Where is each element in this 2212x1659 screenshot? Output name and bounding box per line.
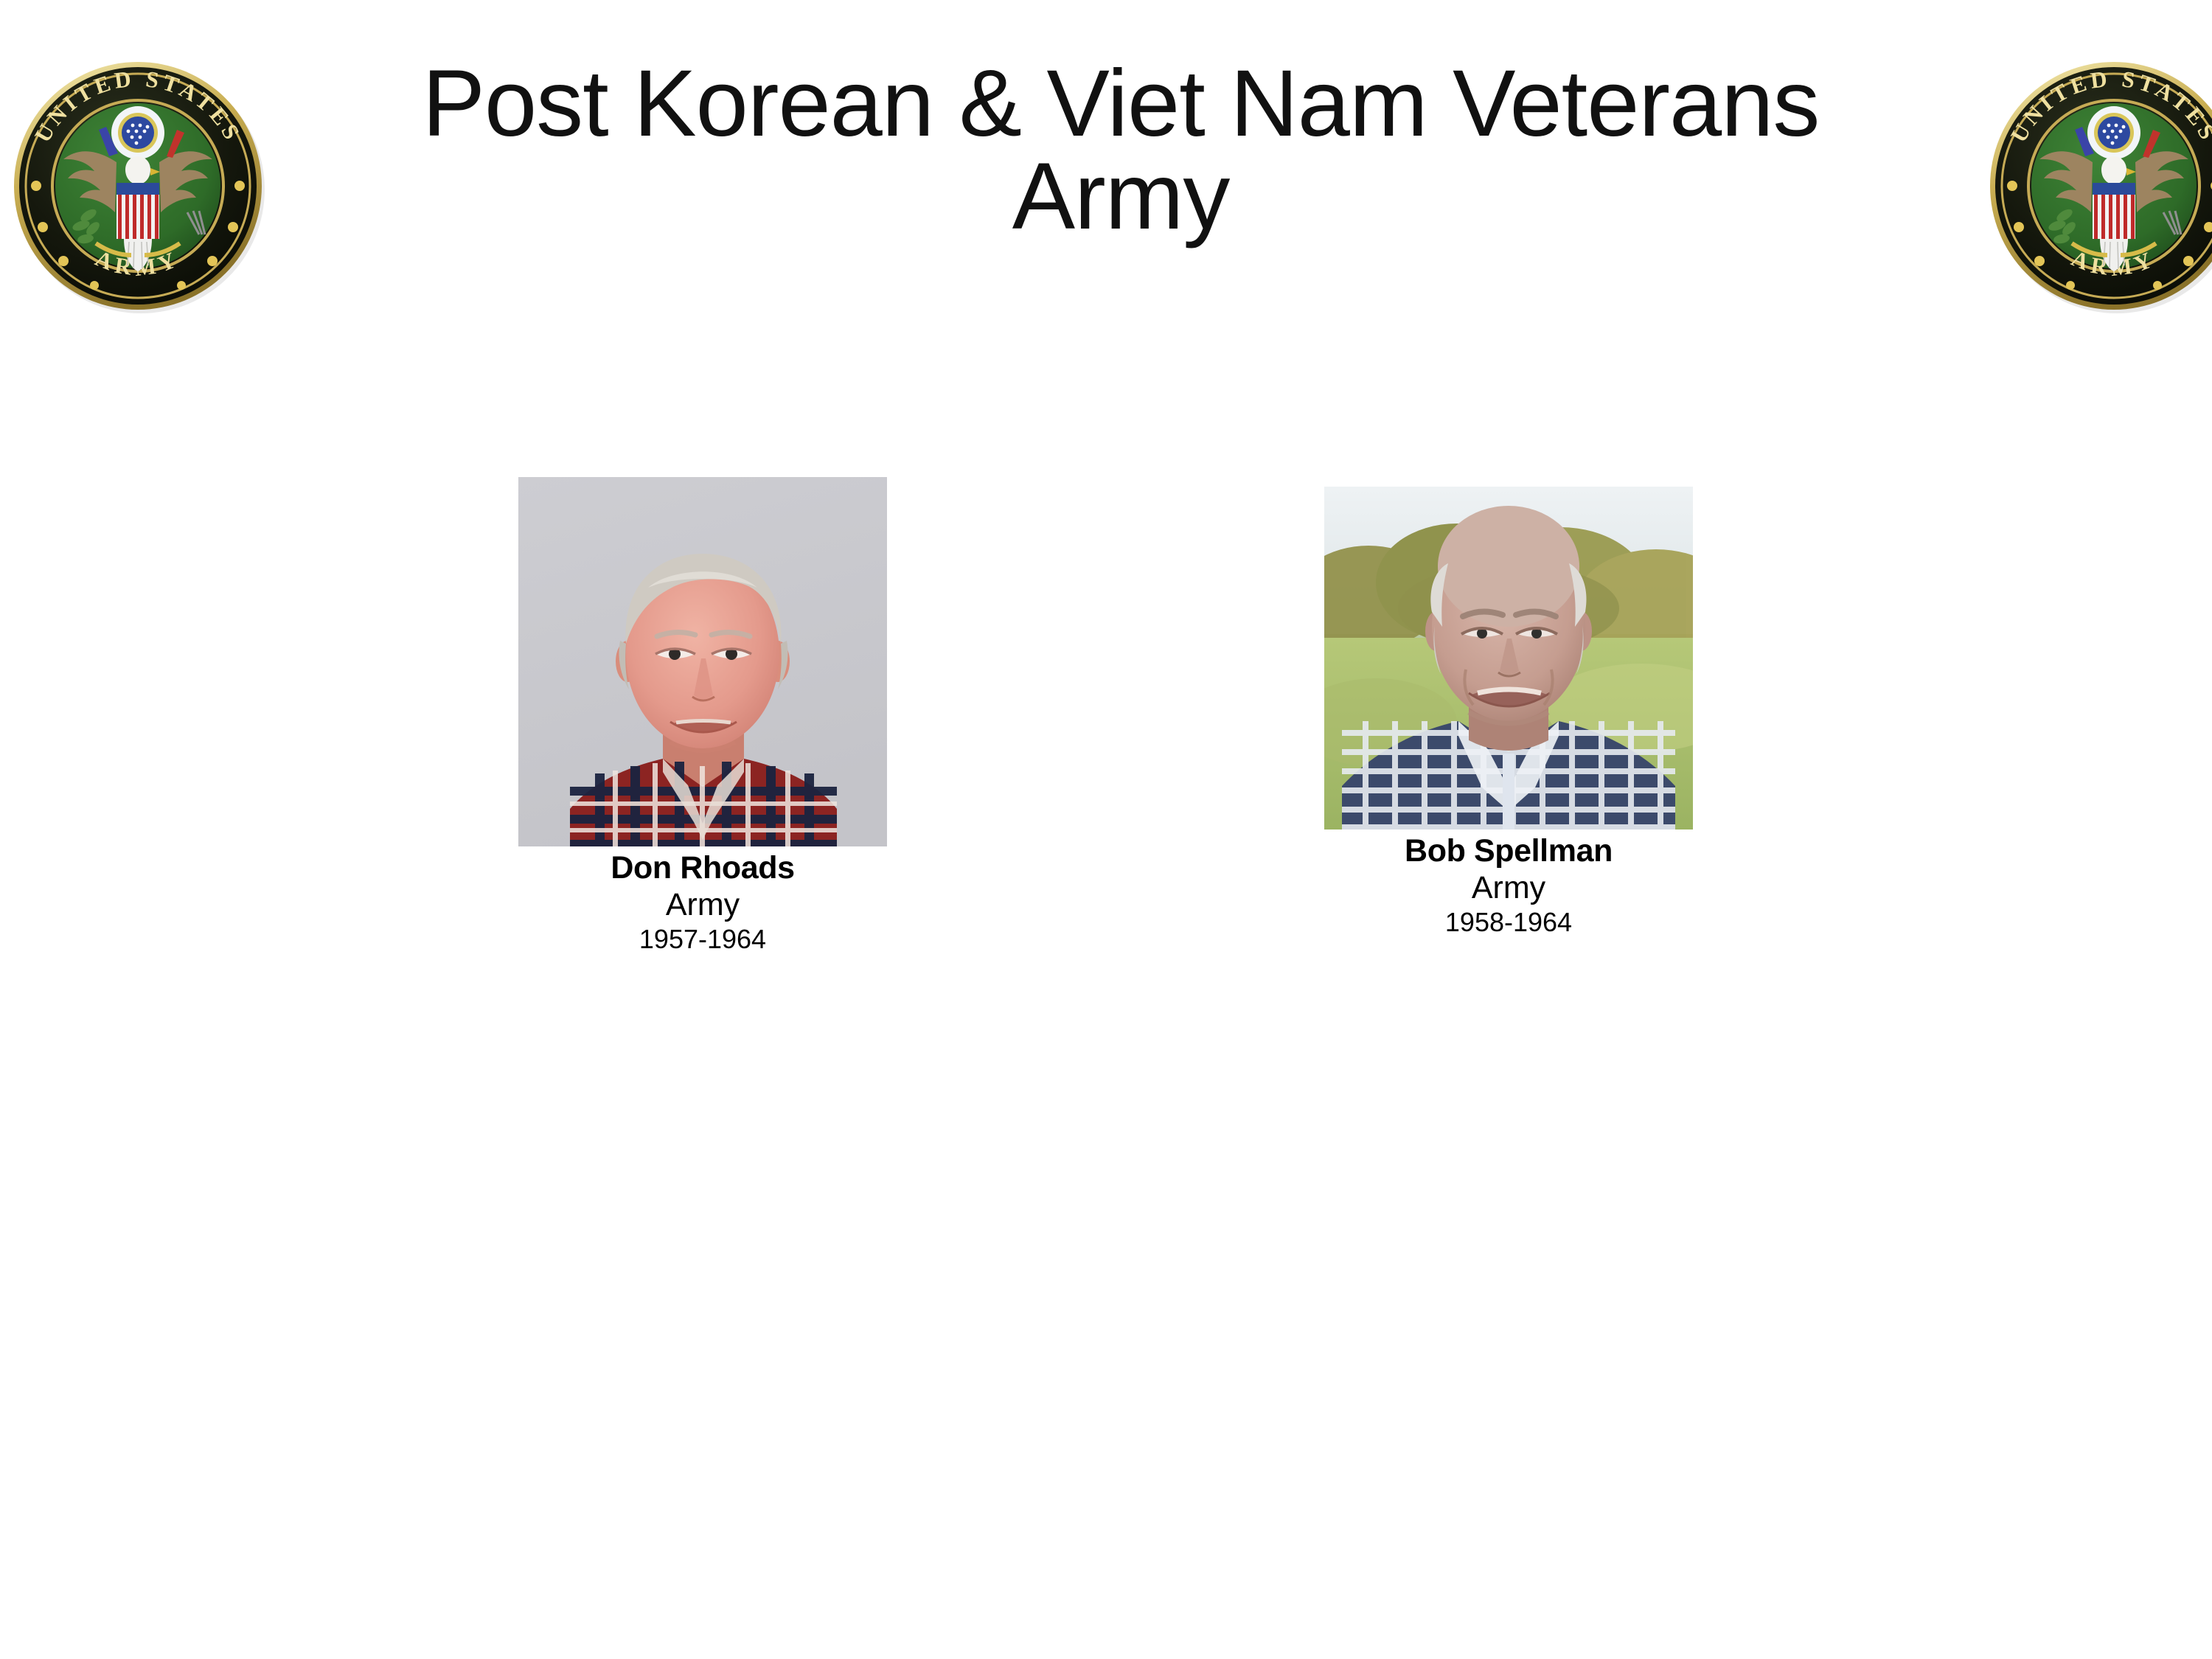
title-line-1: Post Korean & Viet Nam Veterans bbox=[280, 58, 1961, 150]
veteran-years: 1957-1964 bbox=[518, 926, 887, 953]
veteran-caption: Don Rhoads Army 1957-1964 bbox=[518, 852, 887, 953]
veteran-name: Don Rhoads bbox=[518, 852, 887, 885]
veteran-card: Bob Spellman Army 1958-1964 bbox=[1324, 487, 1693, 936]
title-line-2: Army bbox=[280, 150, 1961, 243]
veteran-caption: Bob Spellman Army 1958-1964 bbox=[1324, 835, 1693, 936]
veteran-branch: Army bbox=[1324, 872, 1693, 905]
army-seal-left: UNITED STATES ARMY bbox=[6, 38, 270, 333]
veteran-branch: Army bbox=[518, 889, 887, 922]
army-seal-right: UNITED STATES ARMY bbox=[1982, 38, 2212, 333]
veteran-name: Bob Spellman bbox=[1324, 835, 1693, 868]
veteran-photo bbox=[1324, 487, 1693, 829]
veteran-photo bbox=[518, 477, 887, 846]
veteran-card: Don Rhoads Army 1957-1964 bbox=[518, 477, 887, 953]
veteran-years: 1958-1964 bbox=[1324, 909, 1693, 936]
slide-title: Post Korean & Viet Nam Veterans Army bbox=[280, 58, 1961, 243]
